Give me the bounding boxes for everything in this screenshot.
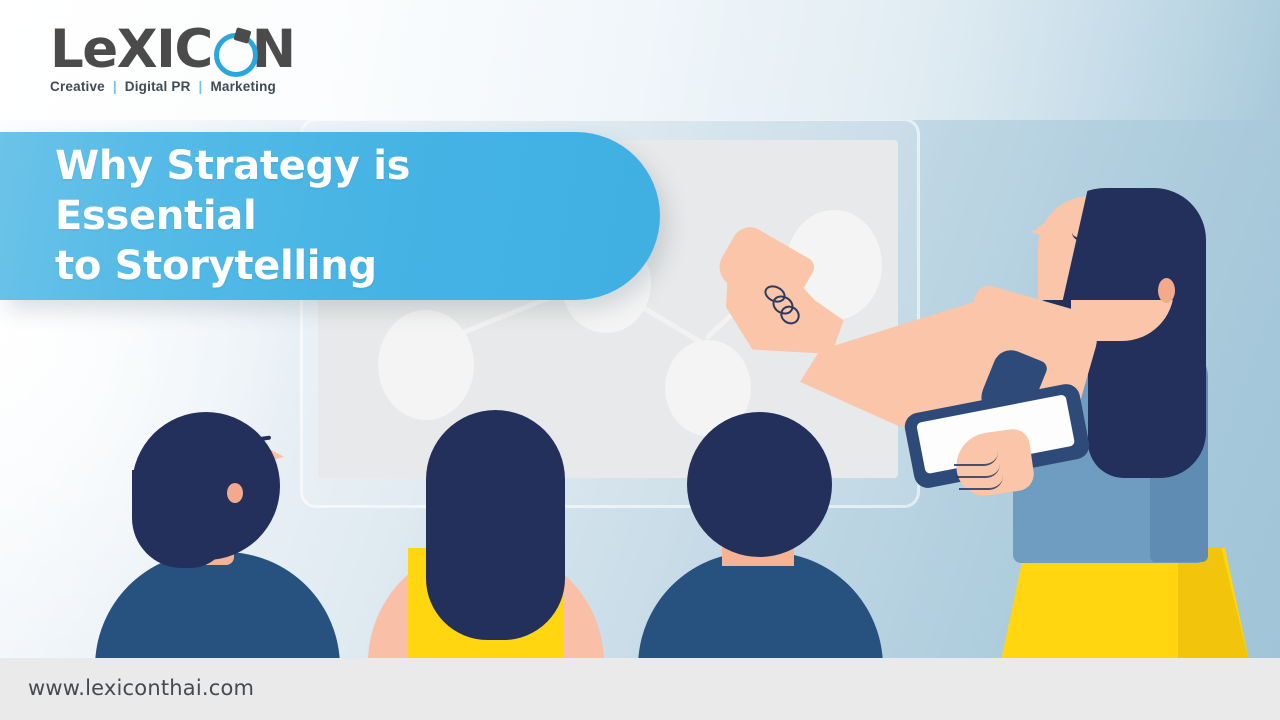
logo-text-lex: LeXIC	[50, 26, 212, 74]
website-url[interactable]: www.lexiconthai.com	[28, 676, 254, 700]
logo-wordmark: LeXIC N	[50, 26, 295, 74]
title-banner-inner: Why Strategy is Essential to Storytellin…	[0, 141, 660, 291]
audience-1-hair-lower	[132, 470, 230, 568]
logo-text-n: N	[252, 26, 295, 74]
tagline-separator-1: |	[109, 79, 121, 94]
title-banner: Why Strategy is Essential to Storytellin…	[0, 132, 660, 300]
tagline-separator-2: |	[195, 79, 207, 94]
audience-2-hair	[426, 410, 565, 640]
presenter-knuckle-lines	[762, 284, 818, 334]
page-title: Why Strategy is Essential to Storytellin…	[55, 141, 600, 291]
tagline-marketing: Marketing	[210, 79, 276, 94]
logo-tagline: Creative | Digital PR | Marketing	[50, 79, 295, 94]
tagline-creative: Creative	[50, 79, 105, 94]
audience-3-head	[687, 412, 832, 557]
title-line-1: Why Strategy is Essential	[55, 141, 600, 241]
title-line-2: to Storytelling	[55, 241, 600, 291]
slide-canvas: LeXIC N Creative | Digital PR | Marketin…	[0, 0, 1280, 720]
presenter-ear	[1158, 278, 1175, 303]
chart-node-1	[378, 310, 474, 420]
presenter-finger-lines	[952, 452, 1016, 494]
audience-1-ear	[227, 483, 243, 503]
circle-o-icon	[212, 30, 252, 70]
tagline-digital-pr: Digital PR	[125, 79, 191, 94]
brand-logo[interactable]: LeXIC N Creative | Digital PR | Marketin…	[50, 26, 295, 94]
